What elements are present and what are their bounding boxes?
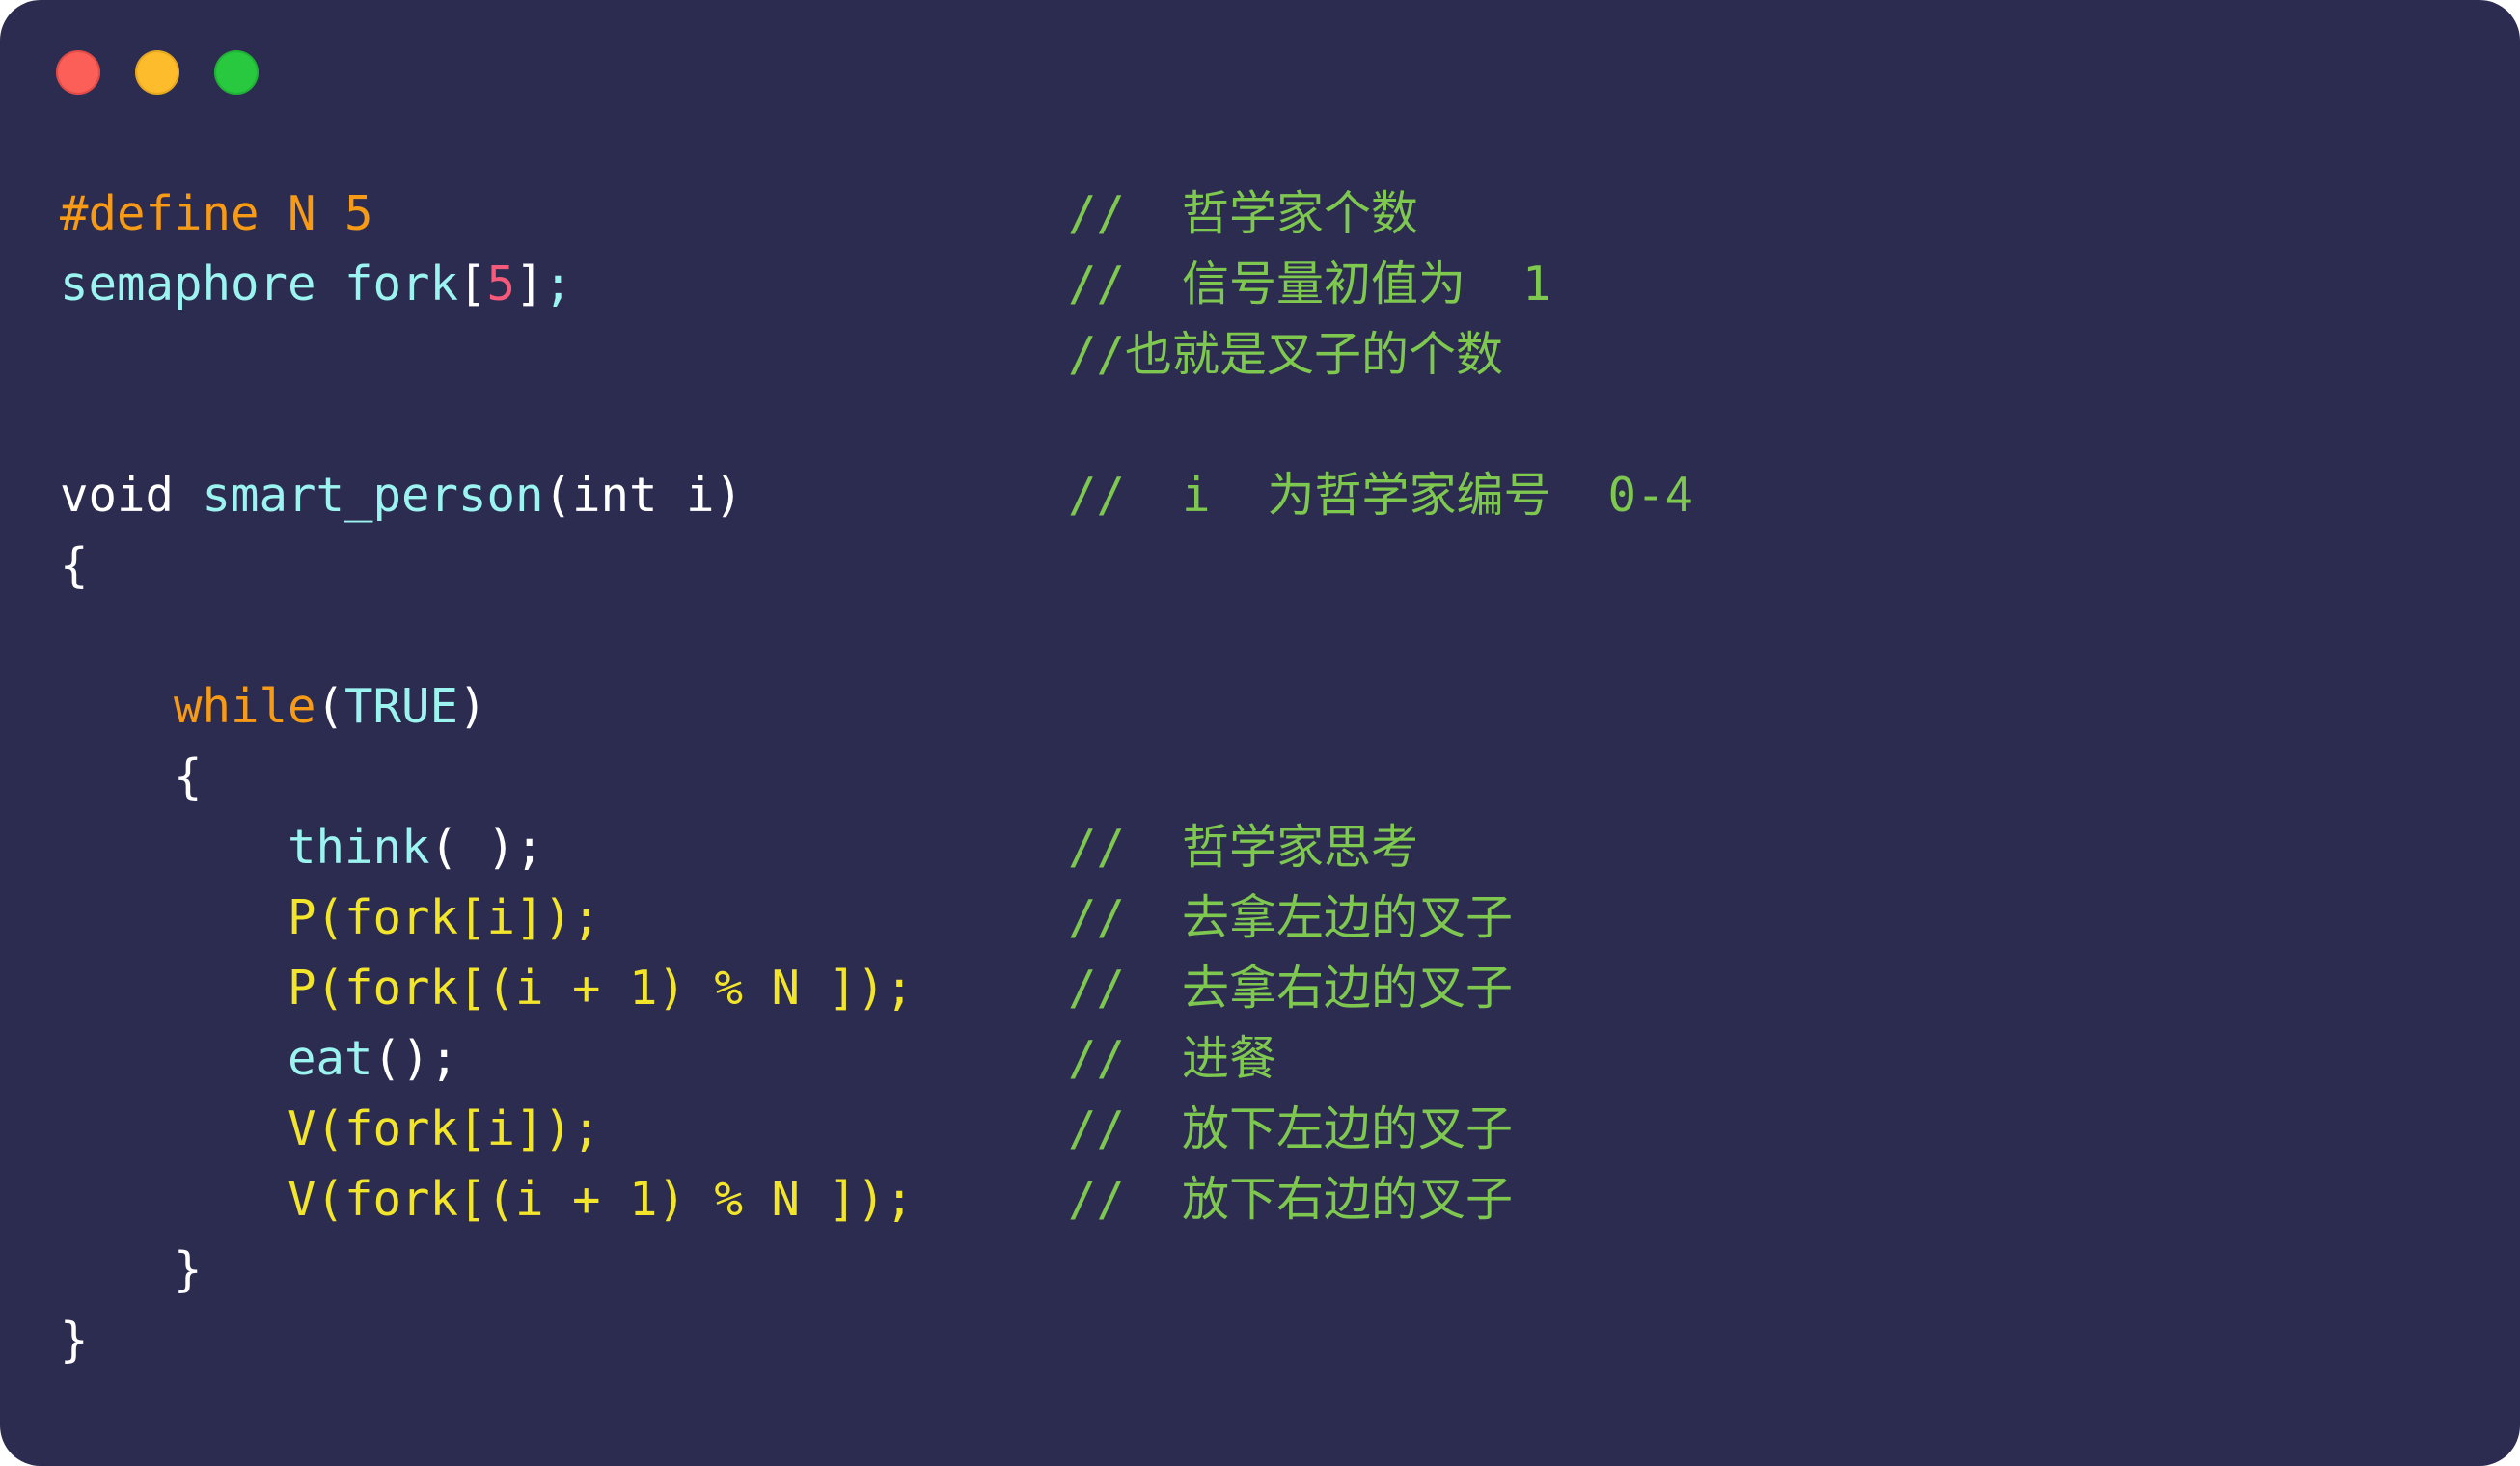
code-line-text: semaphore fork[5]; xyxy=(60,257,572,312)
code-token-function-call: V(fork[(i + 1) % N ]); xyxy=(288,1172,914,1227)
code-line xyxy=(60,390,2501,460)
code-line-text: { xyxy=(60,749,203,804)
code-token-default-text xyxy=(60,1172,288,1227)
code-line-text: eat(); xyxy=(60,1031,458,1086)
code-line: semaphore fork[5];// 信号量初值为 1 xyxy=(60,249,2501,319)
code-token-default-text: } xyxy=(60,1242,203,1297)
code-line xyxy=(60,601,2501,671)
code-line: } xyxy=(60,1235,2501,1305)
code-line: V(fork[i]);// 放下左边的叉子 xyxy=(60,1094,2501,1164)
minimize-button[interactable] xyxy=(135,50,179,95)
code-token-default-text: ( ); xyxy=(430,820,544,875)
zoom-button[interactable] xyxy=(214,50,259,95)
code-line: P(fork[i]);// 去拿左边的叉子 xyxy=(60,882,2501,953)
code-token-default-text xyxy=(60,1101,288,1156)
code-token-keyword: #define N 5 xyxy=(60,186,373,241)
code-block[interactable]: #define N 5// 哲学家个数semaphore fork[5];// … xyxy=(60,178,2501,1375)
code-line: #define N 5// 哲学家个数 xyxy=(60,178,2501,249)
code-token-default-text: ) xyxy=(458,679,487,734)
code-line-text: void smart_person(int i) xyxy=(60,468,743,523)
code-comment: // 哲学家思考 xyxy=(1068,812,1418,882)
code-comment: // 进餐 xyxy=(1068,1023,1276,1094)
code-line: { xyxy=(60,742,2501,812)
code-comment: // 去拿左边的叉子 xyxy=(1068,882,1513,953)
code-token-default-text: (); xyxy=(373,1031,459,1086)
code-token-default-text: void xyxy=(60,468,203,523)
code-line-text: think( ); xyxy=(60,820,544,875)
code-comment: //也就是叉子的个数 xyxy=(1068,319,1503,390)
code-token-identifier: think xyxy=(288,820,430,875)
code-line-text: #define N 5 xyxy=(60,186,373,241)
code-comment: // i 为哲学家编号 0-4 xyxy=(1068,460,1693,530)
code-token-default-text: ] xyxy=(515,257,544,312)
code-line: think( );// 哲学家思考 xyxy=(60,812,2501,882)
code-line-text: V(fork[i]); xyxy=(60,1101,601,1156)
code-token-default-text: { xyxy=(60,538,89,593)
code-token-function-call: P(fork[(i + 1) % N ]); xyxy=(288,961,914,1016)
code-token-default-text xyxy=(60,679,174,734)
code-token-default-text: [ xyxy=(458,257,487,312)
code-line-text: { xyxy=(60,538,89,593)
code-comment: // 去拿右边的叉子 xyxy=(1068,953,1513,1023)
code-token-default-text: { xyxy=(60,749,203,804)
code-line: P(fork[(i + 1) % N ]);// 去拿右边的叉子 xyxy=(60,953,2501,1023)
code-line-text: V(fork[(i + 1) % N ]); xyxy=(60,1172,914,1227)
code-token-function-call: V(fork[i]); xyxy=(288,1101,601,1156)
code-line: eat();// 进餐 xyxy=(60,1023,2501,1094)
code-token-identifier: ; xyxy=(544,257,573,312)
code-line: } xyxy=(60,1305,2501,1375)
code-line-text: P(fork[(i + 1) % N ]); xyxy=(60,961,914,1016)
code-line: V(fork[(i + 1) % N ]);// 放下右边的叉子 xyxy=(60,1164,2501,1235)
close-button[interactable] xyxy=(56,50,100,95)
code-token-identifier: TRUE xyxy=(344,679,458,734)
code-line-text: P(fork[i]); xyxy=(60,890,601,945)
code-line: while(TRUE) xyxy=(60,671,2501,742)
code-line-text: while(TRUE) xyxy=(60,679,487,734)
code-token-default-text xyxy=(60,890,288,945)
code-token-identifier: smart_person xyxy=(203,468,544,523)
code-token-keyword: while xyxy=(174,679,316,734)
code-token-identifier: eat xyxy=(288,1031,373,1086)
code-token-default-text xyxy=(60,1031,288,1086)
code-line: { xyxy=(60,530,2501,601)
code-token-number: 5 xyxy=(487,257,516,312)
code-token-function-call: P(fork[i]); xyxy=(288,890,601,945)
code-line: void smart_person(int i)// i 为哲学家编号 0-4 xyxy=(60,460,2501,530)
code-comment: // 放下左边的叉子 xyxy=(1068,1094,1513,1164)
code-token-identifier: semaphore fork xyxy=(60,257,458,312)
window-titlebar xyxy=(0,0,2520,145)
code-comment: // 哲学家个数 xyxy=(1068,178,1418,249)
code-comment: // 放下右边的叉子 xyxy=(1068,1164,1513,1235)
code-token-default-text xyxy=(60,961,288,1016)
code-snippet-window: #define N 5// 哲学家个数semaphore fork[5];// … xyxy=(0,0,2520,1466)
code-token-default-text: (int i) xyxy=(544,468,744,523)
code-line-text: } xyxy=(60,1242,203,1297)
code-token-default-text xyxy=(60,820,288,875)
code-token-default-text: } xyxy=(60,1313,89,1368)
code-token-default-text: ( xyxy=(316,679,345,734)
code-line: //也就是叉子的个数 xyxy=(60,319,2501,390)
code-line-text: } xyxy=(60,1313,89,1368)
code-comment: // 信号量初值为 1 xyxy=(1068,249,1551,319)
